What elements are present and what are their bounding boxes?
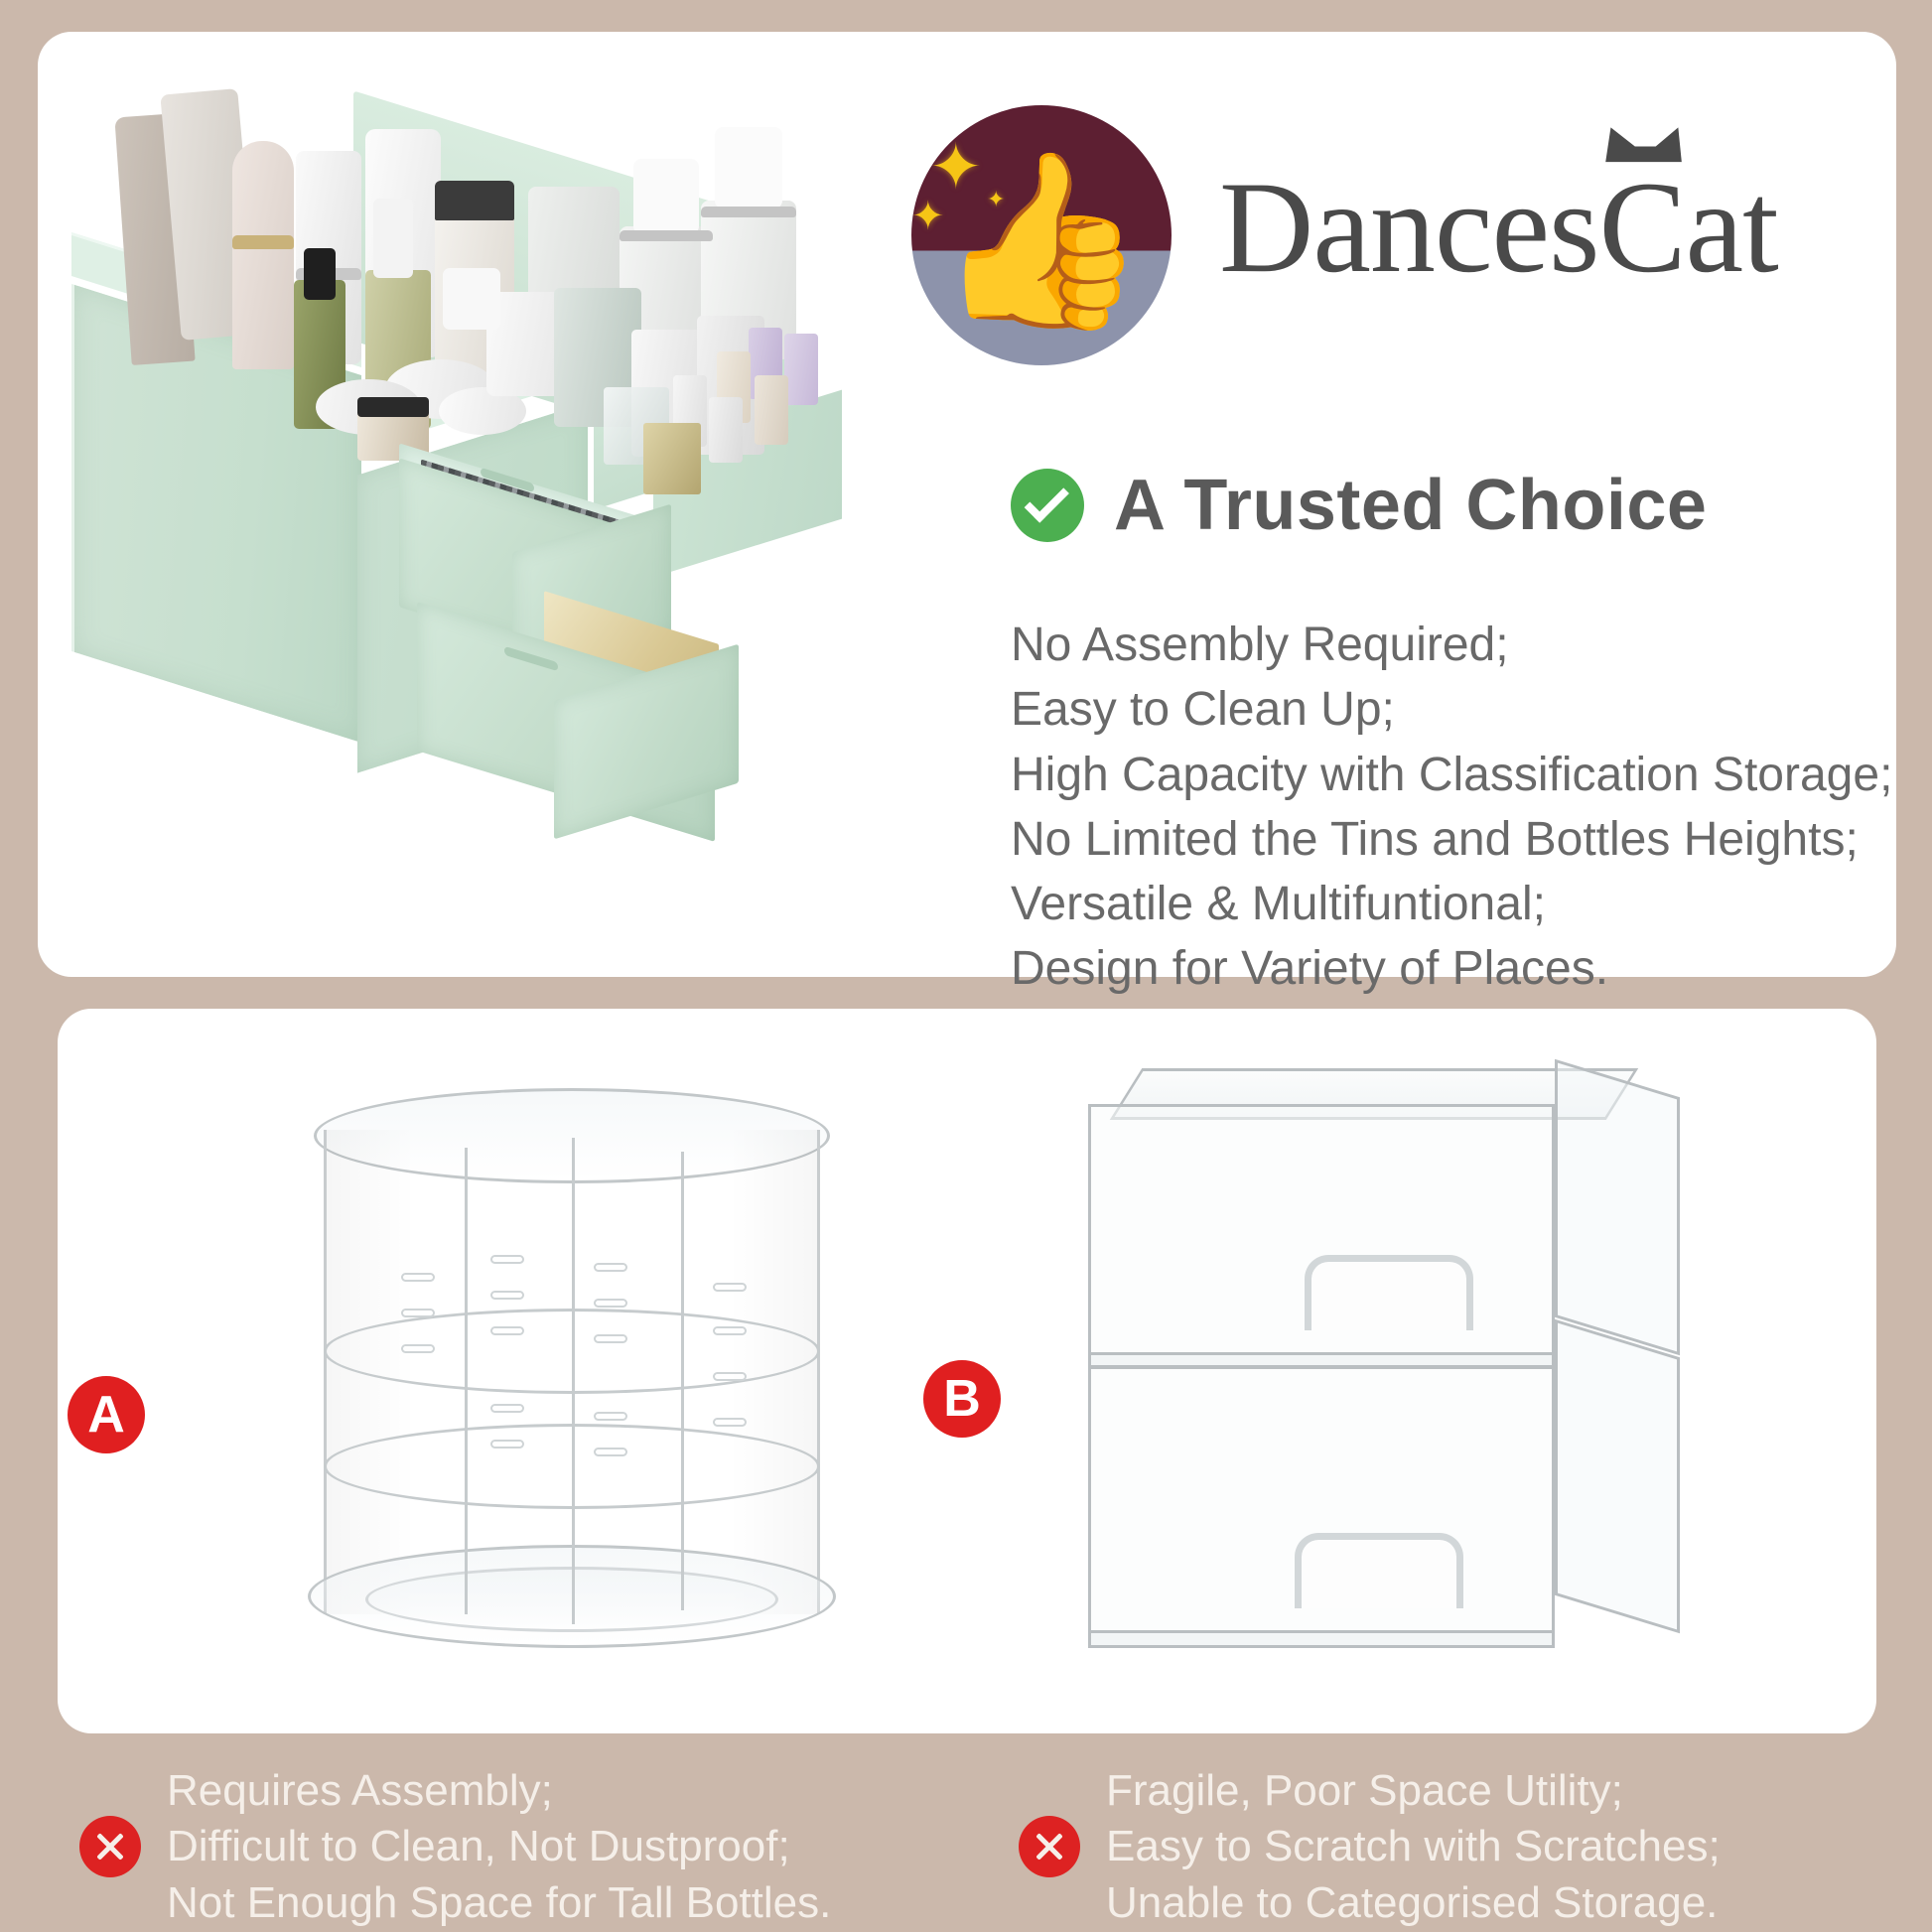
rotating-organizer-divider-left (465, 1148, 468, 1614)
con-item: Easy to Scratch with Scratches; (1106, 1819, 1721, 1874)
stacked-drawers-upper-side (1555, 1059, 1680, 1356)
dropper-cap-black (304, 248, 336, 300)
lipstick-white-2 (709, 397, 743, 463)
perfume-bottle-gold (643, 423, 701, 494)
product-b-image (1070, 1068, 1706, 1684)
shelf-slot (401, 1344, 435, 1353)
bottle-cap-gold-ring (232, 235, 294, 249)
jar-lid-dark (435, 181, 514, 220)
brand-wordmark: DancesCat (1219, 151, 1778, 303)
shelf-slot (401, 1273, 435, 1282)
feature-item: Easy to Clean Up; (1011, 677, 1892, 742)
product-a-image (296, 1078, 852, 1674)
option-b-badge: B (923, 1360, 1001, 1438)
option-a-badge: A (68, 1376, 145, 1453)
shelf-slot (490, 1326, 524, 1335)
feature-list: No Assembly Required; Easy to Clean Up; … (1011, 613, 1892, 1002)
brand-text-dances: Dances (1219, 154, 1598, 300)
feature-item: Design for Variety of Places. (1011, 936, 1892, 1001)
shelf-slot (490, 1255, 524, 1264)
shelf-slot (594, 1334, 627, 1343)
shelf-slot (490, 1291, 524, 1300)
shelf-slot (594, 1263, 627, 1272)
shelf-slot (713, 1418, 747, 1427)
check-mark-glyph (1025, 478, 1069, 522)
foam-pump-head-1 (633, 159, 699, 234)
feature-item: High Capacity with Classification Storag… (1011, 743, 1892, 807)
lotion-bottle-pink (232, 141, 294, 369)
trusted-choice-heading: A Trusted Choice (1011, 465, 1707, 546)
spice-jar-lid (357, 397, 429, 417)
brand-cat-c-icon: C (1598, 151, 1685, 303)
con-item: Requires Assembly; (167, 1763, 831, 1819)
x-circle-icon (1019, 1816, 1080, 1877)
shelf-slot (594, 1299, 627, 1308)
thumbs-up-glyph: 👍 (935, 155, 1148, 326)
option-b-con-lines: Fragile, Poor Space Utility; Easy to Scr… (1106, 1763, 1721, 1931)
lipstick-lilac-2 (784, 334, 818, 405)
shelf-slot (713, 1372, 747, 1381)
shelf-slot (713, 1283, 747, 1292)
trusted-choice-title: A Trusted Choice (1114, 465, 1707, 546)
con-item: Unable to Categorised Storage. (1106, 1875, 1721, 1931)
check-circle-icon (1011, 469, 1084, 542)
upper-drawer-handle[interactable] (1305, 1255, 1473, 1330)
brand-letter-c: C (1598, 154, 1685, 300)
stacked-drawers-lower-side (1555, 1319, 1680, 1634)
pump-head-white-1 (373, 199, 413, 278)
feature-item: Versatile & Multifuntional; (1011, 872, 1892, 936)
con-item: Fragile, Poor Space Utility; (1106, 1763, 1721, 1819)
thumbs-up-icon: ✦ ✦ ✦ 👍 (911, 105, 1172, 365)
option-b-cons: Fragile, Poor Space Utility; Easy to Scr… (1019, 1763, 1721, 1931)
shelf-slot (594, 1412, 627, 1421)
pump-collar-silver-2 (701, 207, 796, 217)
brand-header: ✦ ✦ ✦ 👍 DancesCat ® (911, 97, 1894, 365)
hero-product-image (38, 32, 1021, 977)
feature-item: No Limited the Tins and Bottles Heights; (1011, 807, 1892, 872)
pump-head-white-2 (443, 268, 500, 330)
shelf-slot (594, 1448, 627, 1456)
infographic-page: ✦ ✦ ✦ 👍 DancesCat ® A Trusted Choice No … (0, 0, 1932, 1932)
lipstick-cream-2 (755, 375, 788, 445)
brand-text-at: at (1686, 154, 1778, 300)
lower-drawer-handle[interactable] (1295, 1533, 1463, 1608)
shelf-slot (713, 1326, 747, 1335)
rotating-organizer-divider-right (681, 1152, 684, 1610)
stacked-drawers-base (1088, 1630, 1555, 1648)
con-item: Not Enough Space for Tall Bottles. (167, 1875, 831, 1931)
con-item: Difficult to Clean, Not Dustproof; (167, 1819, 831, 1874)
feature-item: No Assembly Required; (1011, 613, 1892, 677)
shelf-slot (490, 1404, 524, 1413)
x-circle-icon (79, 1816, 141, 1877)
foam-pump-head-2 (715, 127, 782, 208)
shelf-slot (401, 1309, 435, 1317)
option-a-con-lines: Requires Assembly; Difficult to Clean, N… (167, 1763, 831, 1931)
shelf-slot (490, 1440, 524, 1449)
rotating-organizer-divider-center (572, 1138, 575, 1624)
option-a-cons: Requires Assembly; Difficult to Clean, N… (79, 1763, 831, 1931)
pump-collar-silver-1 (620, 230, 713, 241)
